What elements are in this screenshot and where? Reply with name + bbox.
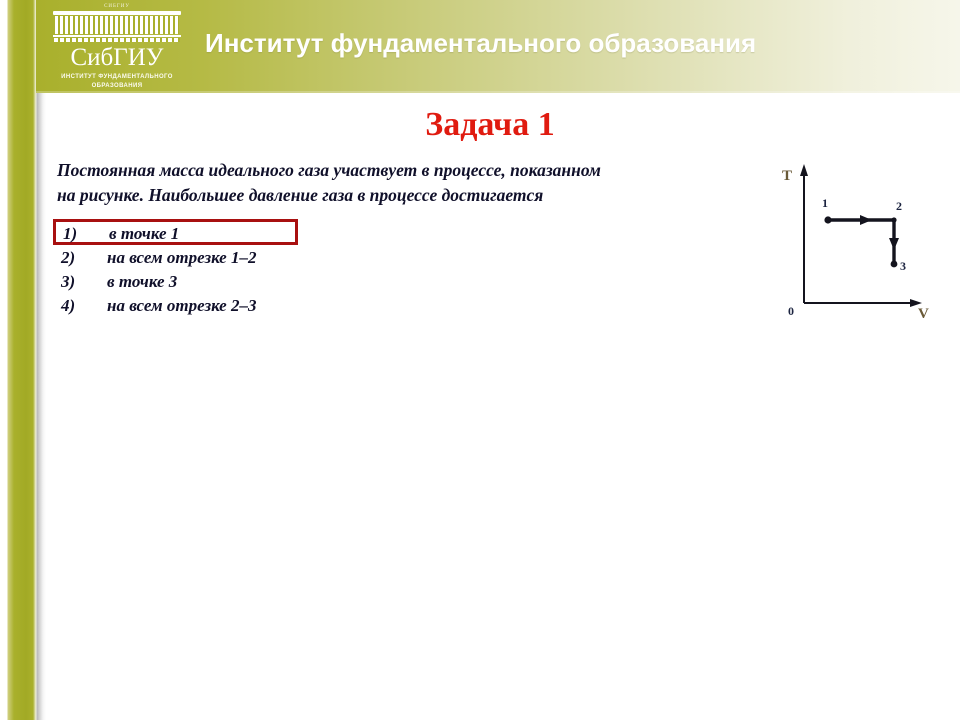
state-point-1-dot xyxy=(824,216,831,223)
origin-label: 0 xyxy=(788,304,794,318)
logo-roof-shape xyxy=(53,11,181,15)
state-point-1-label: 1 xyxy=(822,196,828,210)
state-point-3-dot xyxy=(891,261,898,268)
answer-option-3[interactable]: 3) в точке 3 xyxy=(57,270,477,294)
header-title: Институт фундаментального образования xyxy=(205,28,945,59)
problem-statement: Постоянная масса идеального газа участву… xyxy=(57,158,757,208)
answer-option-1-label: в точке 1 xyxy=(109,222,179,246)
answer-option-2[interactable]: 2) на всем отрезке 1–2 xyxy=(57,246,477,270)
logo-building-icon xyxy=(53,11,181,43)
state-point-2-dot xyxy=(891,217,896,222)
problem-line-1: Постоянная масса идеального газа участву… xyxy=(57,158,757,183)
answer-option-4[interactable]: 4) на всем отрезке 2–3 xyxy=(57,294,477,318)
answer-option-4-label: на всем отрезке 2–3 xyxy=(107,294,256,318)
problem-line-2: на рисунке. Наибольшее давление газа в п… xyxy=(57,183,757,208)
tv-process-diagram: T V 0 1 2 3 xyxy=(772,158,952,318)
answer-option-4-number: 4) xyxy=(61,294,107,318)
answer-option-1-number: 1) xyxy=(63,222,109,246)
segment-2-3-arrowhead xyxy=(889,238,899,250)
answer-option-2-number: 2) xyxy=(61,246,107,270)
slide-canvas: СИБГИУ СибГИУ ИНСТИТУТ ФУНДАМЕНТАЛЬНОГО … xyxy=(0,0,960,720)
v-axis-label: V xyxy=(918,306,929,318)
left-decorative-rail xyxy=(0,0,46,720)
logo-base-steps-shape xyxy=(54,38,180,42)
logo-subtitle-line1: ИНСТИТУТ ФУНДАМЕНТАЛЬНОГО xyxy=(42,73,192,81)
answer-option-3-label: в точке 3 xyxy=(107,270,177,294)
state-point-3-label: 3 xyxy=(900,259,906,273)
logo-tiny-top-text: СИБГИУ xyxy=(42,4,192,11)
t-axis-label: T xyxy=(782,168,792,184)
logo-subtitle-line2: ОБРАЗОВАНИЯ xyxy=(42,82,192,90)
answer-option-1[interactable]: 1) в точке 1 xyxy=(53,219,298,245)
logo-columns-shape xyxy=(55,16,179,34)
logo-name-text: СибГИУ xyxy=(42,44,192,72)
logo-base-shape xyxy=(53,35,181,37)
answer-option-3-number: 3) xyxy=(61,270,107,294)
state-point-2-label: 2 xyxy=(896,199,902,213)
sibgiu-logo: СИБГИУ СибГИУ ИНСТИТУТ ФУНДАМЕНТАЛЬНОГО … xyxy=(42,4,192,92)
answer-option-2-label: на всем отрезке 1–2 xyxy=(107,246,256,270)
answer-options-list: 1) в точке 1 2) на всем отрезке 1–2 3) в… xyxy=(57,219,477,318)
t-axis-arrowhead xyxy=(800,164,808,176)
page-title: Задача 1 xyxy=(60,106,920,144)
segment-1-2-arrowhead xyxy=(860,215,872,225)
